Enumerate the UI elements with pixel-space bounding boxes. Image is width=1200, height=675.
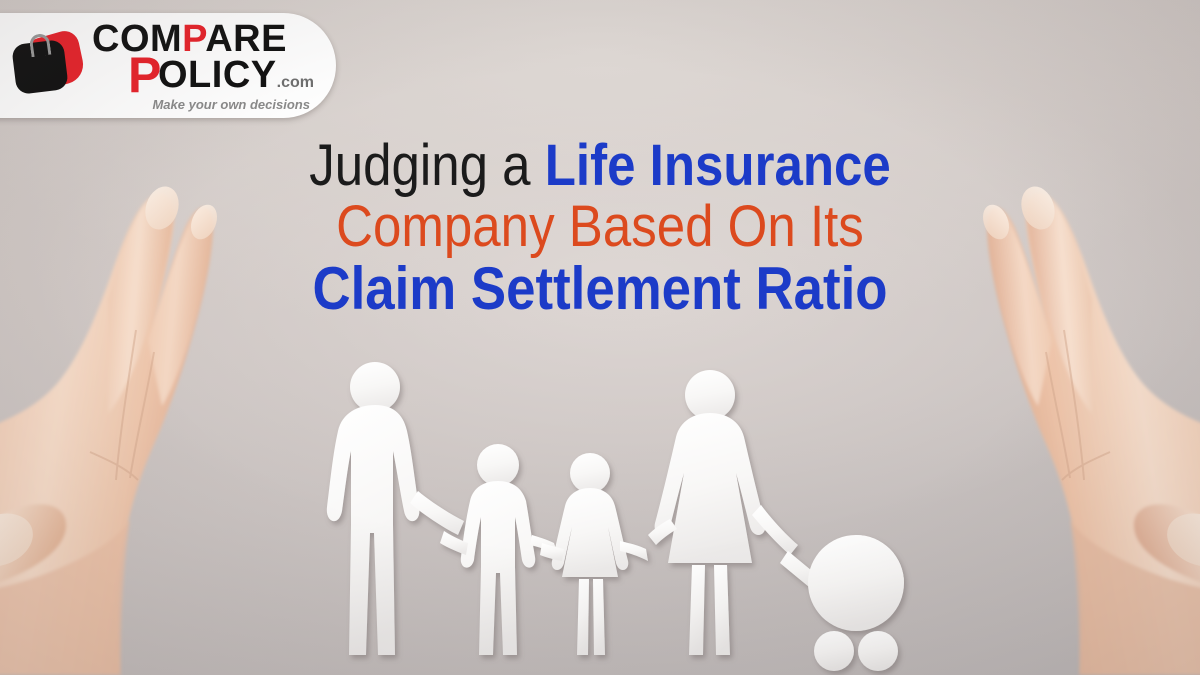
paper-cutout-family <box>300 355 900 675</box>
right-protecting-hand <box>960 0 1200 675</box>
brand-domain-suffix: .com <box>277 74 314 91</box>
headline-line-2: Company Based On Its <box>248 197 952 256</box>
headline-line-3: Claim Settlement Ratio <box>248 258 952 319</box>
headline-line-1-plain: Judging a <box>309 133 545 198</box>
girl-figure <box>540 453 648 655</box>
stroller-figure <box>780 535 904 671</box>
mother-figure <box>648 370 798 655</box>
banner-canvas: Judging a Life Insurance Company Based O… <box>0 0 1200 675</box>
boy-figure <box>440 444 558 655</box>
tag-card-icon <box>8 28 86 100</box>
father-figure <box>327 362 464 655</box>
headline-block: Judging a Life Insurance Company Based O… <box>200 136 1000 320</box>
brand-tagline: Make your own decisions <box>92 98 314 111</box>
brand-p-big: P <box>128 50 162 100</box>
headline-line-1: Judging a Life Insurance <box>248 136 952 195</box>
headline-line-1-accent: Life Insurance <box>545 133 891 198</box>
brand-name-line-1: COMPARE <box>92 20 314 58</box>
brand-name-line-2: POLICY.com <box>92 56 314 94</box>
brand-logo[interactable]: COMPARE POLICY.com Make your own decisio… <box>0 13 336 118</box>
